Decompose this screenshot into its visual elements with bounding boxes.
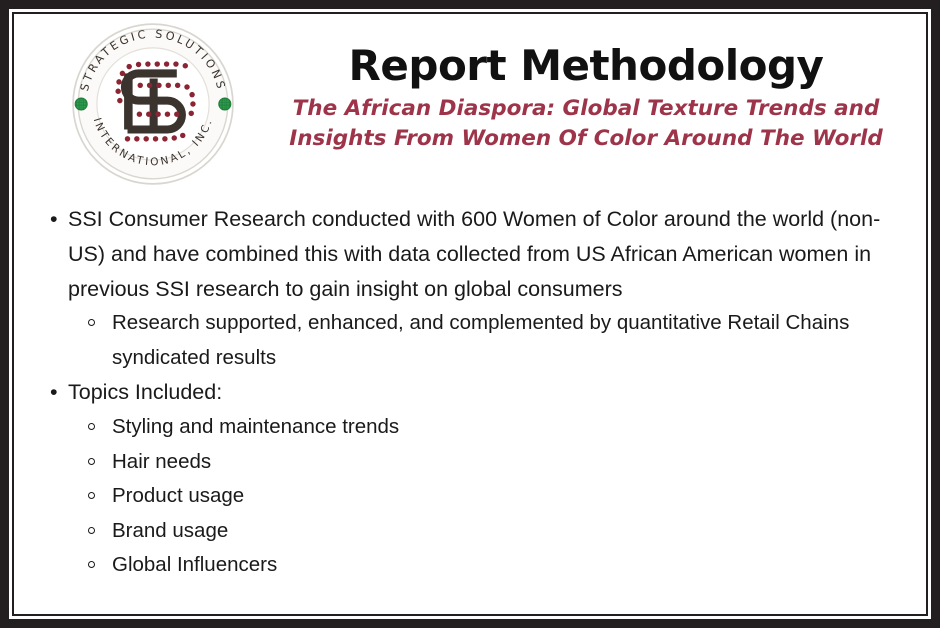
bullet-list-level-2: Research supported, enhanced, and comple… [32,306,912,375]
company-logo: STRATEGIC SOLUTIONS INTERNATIONAL, INC. [68,19,238,189]
slide-frame-outer: STRATEGIC SOLUTIONS INTERNATIONAL, INC. [0,0,940,628]
sub-bullet-text: Hair needs [112,445,912,479]
hollow-bullet-marker-icon [88,492,95,499]
page-title: Report Methodology [254,44,918,88]
hollow-bullet-marker-icon [88,458,95,465]
sub-bullet-text: Global Influencers [112,548,912,582]
title-block: Report Methodology The African Diaspora:… [254,44,918,155]
list-item: Styling and maintenance trends [72,410,912,444]
list-item: Hair needs [72,445,912,479]
hollow-bullet-marker-icon [88,561,95,568]
sub-bullet-text: Styling and maintenance trends [112,410,912,444]
page-subtitle: The African Diaspora: Global Texture Tre… [254,94,918,155]
hollow-bullet-marker-icon [88,527,95,534]
bullet-list-level-2: Styling and maintenance trends Hair need… [32,410,912,582]
subtitle-line-1: The African Diaspora: Global Texture Tre… [254,94,918,125]
bullet-text: Topics Included: [68,375,912,410]
slide-header: STRATEGIC SOLUTIONS INTERNATIONAL, INC. [14,14,926,199]
list-item: • Topics Included: [32,375,912,410]
list-item: Brand usage [72,514,912,548]
list-item: Research supported, enhanced, and comple… [72,306,912,375]
slide-body: • SSI Consumer Research conducted with 6… [14,202,926,582]
bullet-list-level-1: • SSI Consumer Research conducted with 6… [32,202,912,582]
strategic-solutions-seal-icon: STRATEGIC SOLUTIONS INTERNATIONAL, INC. [68,19,238,189]
sub-bullet-text: Brand usage [112,514,912,548]
sub-bullet-text: Product usage [112,479,912,513]
bullet-text: SSI Consumer Research conducted with 600… [68,202,912,306]
list-item: Global Influencers [72,548,912,582]
subtitle-line-2: Insights From Women Of Color Around The … [254,124,918,155]
bullet-marker-icon: • [50,202,58,237]
bullet-marker-icon: • [50,375,58,410]
list-item: • SSI Consumer Research conducted with 6… [32,202,912,306]
sub-bullet-text: Research supported, enhanced, and comple… [112,306,912,375]
hollow-bullet-marker-icon [88,423,95,430]
hollow-bullet-marker-icon [88,319,95,326]
list-item: Product usage [72,479,912,513]
slide-frame-gap: STRATEGIC SOLUTIONS INTERNATIONAL, INC. [9,9,931,619]
slide-canvas: STRATEGIC SOLUTIONS INTERNATIONAL, INC. [12,12,928,616]
